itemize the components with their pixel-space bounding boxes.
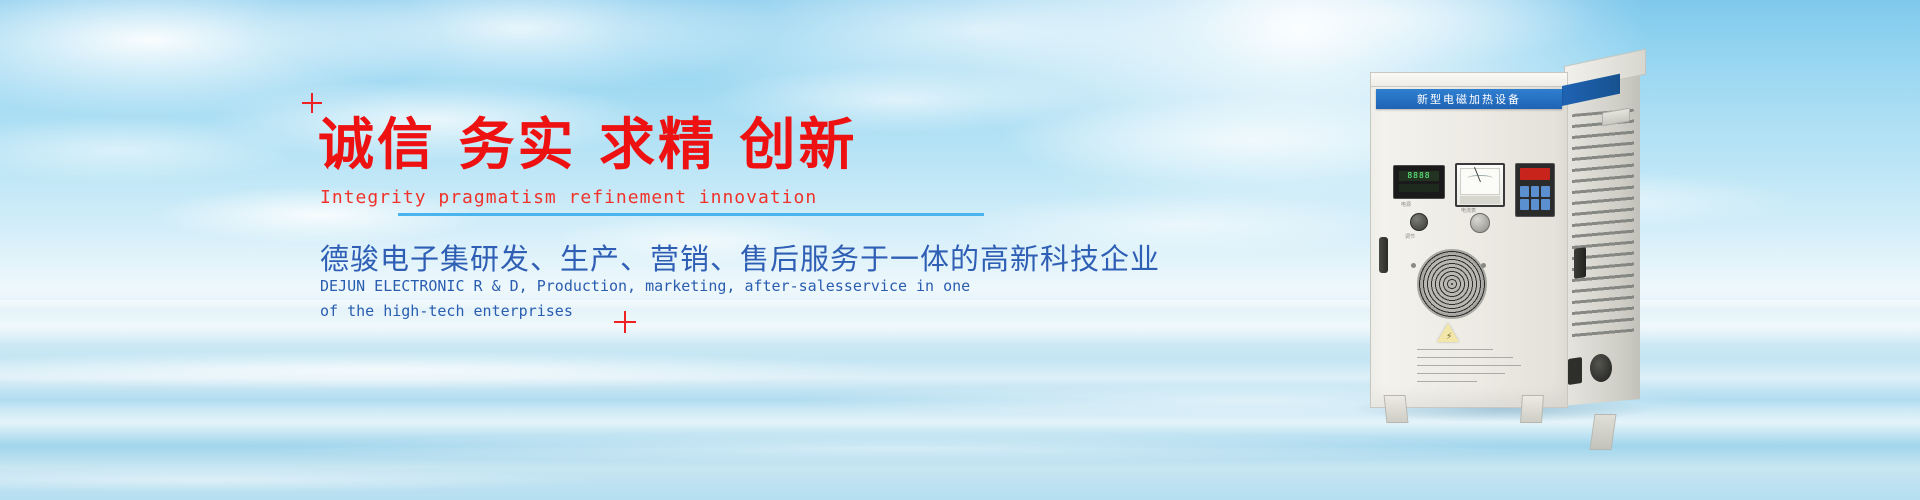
front-door-handle xyxy=(1379,237,1388,273)
spec-line xyxy=(1417,381,1477,382)
fan-bolt xyxy=(1411,263,1416,268)
spec-line xyxy=(1417,365,1521,366)
product-leg xyxy=(1589,414,1616,450)
keypad-key xyxy=(1531,199,1540,210)
side-port-round xyxy=(1590,354,1612,382)
keypad-key xyxy=(1520,186,1529,197)
adjust-knob xyxy=(1470,213,1490,233)
product-image-heating-equipment: 8888 xyxy=(1370,62,1640,422)
section-divider xyxy=(398,213,984,216)
banner-text-block: 诚信 务实 求精 创新 Integrity pragmatism refinem… xyxy=(0,0,1200,500)
promotional-banner: 诚信 务实 求精 创新 Integrity pragmatism refinem… xyxy=(0,0,1920,500)
keypad-key xyxy=(1541,186,1550,197)
meter-face xyxy=(1460,168,1500,195)
product-front-panel: 8888 xyxy=(1370,86,1568,408)
headline-slogan: 诚信 务实 求精 创新 xyxy=(318,118,858,174)
fan-bolt xyxy=(1481,263,1486,268)
digital-readout-secondary xyxy=(1399,184,1439,192)
digital-display: 8888 xyxy=(1393,165,1445,199)
analog-meter xyxy=(1455,163,1505,207)
side-handle xyxy=(1574,247,1586,279)
product-name-label: 新型电磁加热设备 xyxy=(1376,89,1562,109)
keypad-key xyxy=(1541,199,1550,210)
side-port-rectangular xyxy=(1568,357,1582,385)
keypad-key xyxy=(1531,186,1540,197)
meter-label: 电流表 xyxy=(1461,207,1476,214)
knob-label-right: 调节 xyxy=(1405,233,1415,240)
keypad-buttons xyxy=(1520,186,1550,210)
cooling-fan-grille xyxy=(1417,249,1487,319)
knob-label-left: 电源 xyxy=(1401,201,1411,208)
control-keypad xyxy=(1515,163,1555,217)
spec-line xyxy=(1417,373,1505,374)
product-leg xyxy=(1520,395,1544,423)
keypad-key xyxy=(1520,199,1529,210)
keypad-display xyxy=(1520,168,1550,180)
company-description-english: DEJUN ELECTRONIC R & D, Production, mark… xyxy=(320,274,970,324)
plus-mark-icon xyxy=(302,93,322,113)
product-leg xyxy=(1384,395,1409,423)
spec-line xyxy=(1417,357,1513,358)
warning-symbol: ⚡ xyxy=(1446,332,1452,342)
meter-brand-strip xyxy=(1460,196,1500,204)
specification-text-lines xyxy=(1417,349,1527,397)
headline-slogan-english: Integrity pragmatism refinement innovati… xyxy=(320,187,817,208)
digital-readout: 8888 xyxy=(1399,171,1439,181)
product-vent-grille xyxy=(1572,109,1634,342)
spec-line xyxy=(1417,349,1493,350)
power-knob xyxy=(1410,213,1428,231)
company-description-chinese: 德骏电子集研发、生产、营销、售后服务于一体的高新科技企业 xyxy=(320,236,1160,278)
